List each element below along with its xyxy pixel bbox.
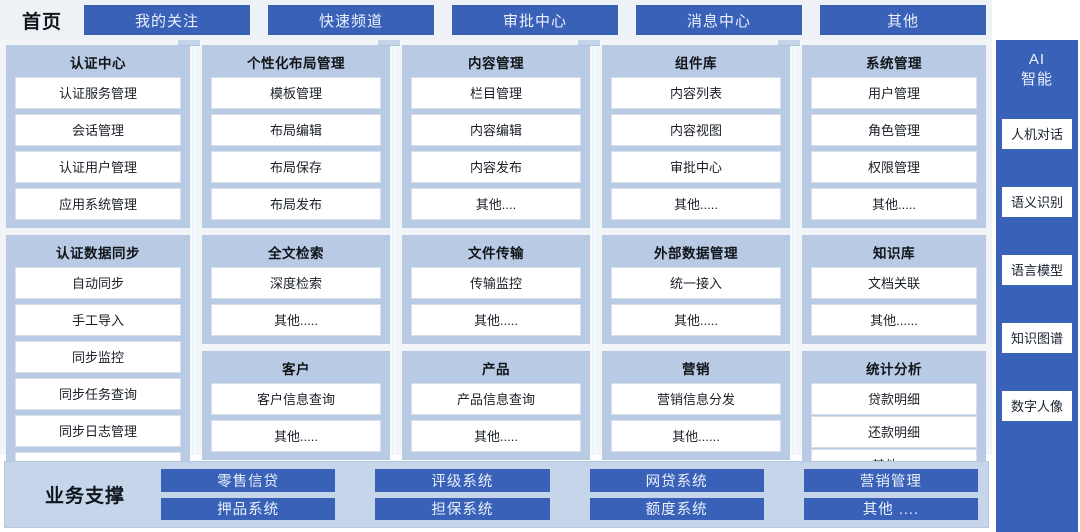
card-title: 全文检索	[211, 239, 381, 267]
card-group: 个性化布局管理模板管理布局编辑布局保存布局发布	[202, 45, 390, 228]
card-item-list: 传输监控其他.....	[411, 267, 581, 336]
support-button-4[interactable]: 押品系统	[161, 498, 335, 521]
card-title: 客户	[211, 355, 381, 383]
menu-item[interactable]: 用户管理	[811, 77, 977, 109]
card-group: 外部数据管理统一接入其他.....	[602, 235, 790, 344]
card-item-list: 深度检索其他.....	[211, 267, 381, 336]
card-title: 文件传输	[411, 239, 581, 267]
column-connector-nub-1	[378, 40, 400, 46]
menu-item[interactable]: 贷款明细	[811, 383, 977, 415]
header-tab-1[interactable]: 快速频道	[268, 5, 434, 35]
portal-page: 首页 我的关注快速频道审批中心消息中心其他 认证中心认证服务管理会话管理认证用户…	[0, 0, 1080, 532]
menu-item[interactable]: 模板管理	[211, 77, 381, 109]
menu-item[interactable]: 客户信息查询	[211, 383, 381, 415]
support-button-2[interactable]: 网贷系统	[590, 469, 764, 492]
menu-item[interactable]: 内容发布	[411, 151, 581, 183]
menu-item[interactable]: 自动同步	[15, 267, 181, 299]
card-group: 营销营销信息分发其他......	[602, 351, 790, 460]
card-item-list: 客户信息查询其他.....	[211, 383, 381, 452]
card-item-list: 文档关联其他......	[811, 267, 977, 336]
menu-item[interactable]: 权限管理	[811, 151, 977, 183]
column-1: 个性化布局管理模板管理布局编辑布局保存布局发布全文检索深度检索其他.....客户…	[196, 40, 396, 455]
card-group: 客户客户信息查询其他.....	[202, 351, 390, 460]
card-group: 知识库文档关联其他......	[802, 235, 986, 344]
menu-item[interactable]: 其他.....	[411, 420, 581, 452]
main-columns: 认证中心认证服务管理会话管理认证用户管理应用系统管理认证数据同步自动同步手工导入…	[0, 40, 992, 455]
column-connector-nub-0	[178, 40, 200, 46]
column-3: 组件库内容列表内容视图审批中心其他.....外部数据管理统一接入其他.....营…	[596, 40, 796, 455]
support-button-7[interactable]: 其他 ....	[804, 498, 978, 521]
column-connector-nub-3	[778, 40, 800, 46]
card-item-list: 产品信息查询其他.....	[411, 383, 581, 452]
card-group: 全文检索深度检索其他.....	[202, 235, 390, 344]
menu-item[interactable]: 传输监控	[411, 267, 581, 299]
card-group: 认证数据同步自动同步手工导入同步监控同步任务查询同步日志管理其他.....	[6, 235, 190, 492]
menu-item[interactable]: 布局编辑	[211, 114, 381, 146]
menu-item[interactable]: 会话管理	[15, 114, 181, 146]
ai-button-1[interactable]: 语义识别	[1002, 187, 1072, 217]
menu-item[interactable]: 同步日志管理	[15, 415, 181, 447]
column-0: 认证中心认证服务管理会话管理认证用户管理应用系统管理认证数据同步自动同步手工导入…	[0, 40, 196, 455]
card-group: 内容管理栏目管理内容编辑内容发布其他....	[402, 45, 590, 228]
menu-item[interactable]: 其他.....	[411, 304, 581, 336]
support-button-1[interactable]: 评级系统	[375, 469, 549, 492]
menu-item[interactable]: 同步任务查询	[15, 378, 181, 410]
card-item-list: 模板管理布局编辑布局保存布局发布	[211, 77, 381, 220]
menu-item[interactable]: 内容编辑	[411, 114, 581, 146]
card-title: 产品	[411, 355, 581, 383]
header-tab-4[interactable]: 其他	[820, 5, 986, 35]
ai-button-3[interactable]: 知识图谱	[1002, 323, 1072, 353]
business-support-bar: 业务支撑 零售信贷评级系统网贷系统营销管理押品系统担保系统额度系统其他 ....	[4, 461, 989, 528]
card-item-list: 自动同步手工导入同步监控同步任务查询同步日志管理其他.....	[15, 267, 181, 484]
card-item-list: 栏目管理内容编辑内容发布其他....	[411, 77, 581, 220]
header-tab-0[interactable]: 我的关注	[84, 5, 250, 35]
home-title: 首页	[0, 7, 84, 34]
menu-item[interactable]: 手工导入	[15, 304, 181, 336]
header-tab-2[interactable]: 审批中心	[452, 5, 618, 35]
menu-item[interactable]: 布局保存	[211, 151, 381, 183]
card-item-list: 营销信息分发其他......	[611, 383, 781, 452]
menu-item[interactable]: 认证服务管理	[15, 77, 181, 109]
column-connector-nub-2	[578, 40, 600, 46]
card-item-list: 用户管理角色管理权限管理其他.....	[811, 77, 977, 220]
menu-item[interactable]: 营销信息分发	[611, 383, 781, 415]
header-tab-3[interactable]: 消息中心	[636, 5, 802, 35]
menu-item[interactable]: 其他....	[411, 188, 581, 220]
column-2: 内容管理栏目管理内容编辑内容发布其他....文件传输传输监控其他.....产品产…	[396, 40, 596, 455]
menu-item[interactable]: 深度检索	[211, 267, 381, 299]
menu-item[interactable]: 产品信息查询	[411, 383, 581, 415]
support-button-5[interactable]: 担保系统	[375, 498, 549, 521]
menu-item[interactable]: 应用系统管理	[15, 188, 181, 220]
menu-item[interactable]: 其他.....	[811, 188, 977, 220]
ai-sidebar-title: AI 智能	[1021, 50, 1053, 91]
card-title: 系统管理	[811, 49, 977, 77]
card-item-list: 认证服务管理会话管理认证用户管理应用系统管理	[15, 77, 181, 220]
ai-button-2[interactable]: 语言模型	[1002, 255, 1072, 285]
card-title: 个性化布局管理	[211, 49, 381, 77]
business-support-grid: 零售信贷评级系统网贷系统营销管理押品系统担保系统额度系统其他 ....	[161, 467, 978, 522]
header-tabs: 我的关注快速频道审批中心消息中心其他	[84, 5, 992, 35]
card-group: 组件库内容列表内容视图审批中心其他.....	[602, 45, 790, 228]
menu-item[interactable]: 其他.....	[211, 420, 381, 452]
menu-item[interactable]: 统一接入	[611, 267, 781, 299]
card-title: 营销	[611, 355, 781, 383]
menu-item[interactable]: 其他.....	[611, 188, 781, 220]
menu-item[interactable]: 布局发布	[211, 188, 381, 220]
menu-item[interactable]: 其他.....	[611, 304, 781, 336]
card-group: 系统管理用户管理角色管理权限管理其他.....	[802, 45, 986, 228]
ai-title-line-1: AI	[1021, 50, 1053, 70]
menu-item[interactable]: 角色管理	[811, 114, 977, 146]
menu-item[interactable]: 还款明细	[811, 416, 977, 448]
card-title: 知识库	[811, 239, 977, 267]
menu-item[interactable]: 审批中心	[611, 151, 781, 183]
top-header: 首页 我的关注快速频道审批中心消息中心其他	[0, 0, 992, 40]
card-title: 组件库	[611, 49, 781, 77]
menu-item[interactable]: 文档关联	[811, 267, 977, 299]
card-group: 产品产品信息查询其他.....	[402, 351, 590, 460]
menu-item[interactable]: 同步监控	[15, 341, 181, 373]
ai-button-0[interactable]: 人机对话	[1002, 119, 1072, 149]
ai-button-4[interactable]: 数字人像	[1002, 391, 1072, 421]
ai-button-list: 人机对话语义识别语言模型知识图谱数字人像	[1002, 119, 1072, 421]
card-title: 认证数据同步	[15, 239, 181, 267]
support-button-0[interactable]: 零售信贷	[161, 469, 335, 492]
ai-title-line-2: 智能	[1021, 70, 1053, 90]
card-item-list: 内容列表内容视图审批中心其他.....	[611, 77, 781, 220]
support-button-3[interactable]: 营销管理	[804, 469, 978, 492]
business-support-label: 业务支撑	[9, 481, 161, 508]
menu-item[interactable]: 其他......	[611, 420, 781, 452]
menu-item[interactable]: 其他......	[811, 304, 977, 336]
card-group: 文件传输传输监控其他.....	[402, 235, 590, 344]
column-4: 系统管理用户管理角色管理权限管理其他.....知识库文档关联其他......统计…	[796, 40, 992, 455]
card-group: 认证中心认证服务管理会话管理认证用户管理应用系统管理	[6, 45, 190, 228]
card-item-list: 统一接入其他.....	[611, 267, 781, 336]
card-title: 认证中心	[15, 49, 181, 77]
menu-item[interactable]: 内容列表	[611, 77, 781, 109]
card-title: 内容管理	[411, 49, 581, 77]
card-title: 统计分析	[811, 355, 977, 383]
menu-item[interactable]: 内容视图	[611, 114, 781, 146]
menu-item[interactable]: 其他.....	[211, 304, 381, 336]
support-button-6[interactable]: 额度系统	[590, 498, 764, 521]
card-title: 外部数据管理	[611, 239, 781, 267]
menu-item[interactable]: 认证用户管理	[15, 151, 181, 183]
ai-sidebar: AI 智能 人机对话语义识别语言模型知识图谱数字人像	[996, 40, 1078, 532]
menu-item[interactable]: 栏目管理	[411, 77, 581, 109]
